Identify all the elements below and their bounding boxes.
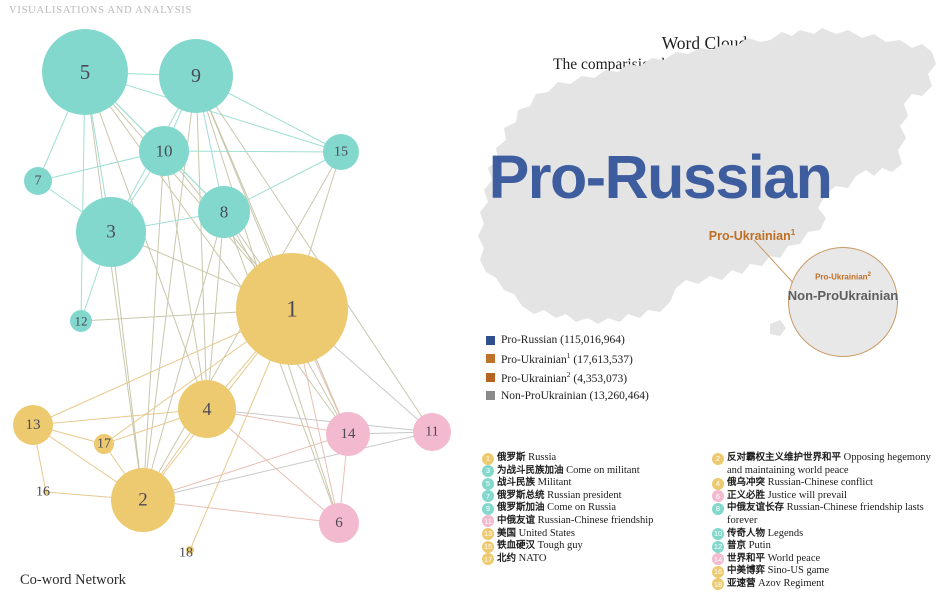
legend-label: Non-ProUkrainian (13,260,464) (501, 390, 649, 402)
keyword-item: 14世界和平 World peace (712, 553, 934, 566)
keyword-text: 战斗民族 Militant (497, 477, 704, 490)
keyword-item: 13美国 United States (482, 528, 704, 541)
legend-swatch-icon (486, 373, 495, 382)
keyword-chinese: 中俄友谊长存 (727, 502, 784, 513)
keyword-text: 俄罗斯 Russia (497, 452, 704, 465)
network-edge (143, 434, 348, 500)
network-node-2[interactable]: 2 (111, 468, 175, 532)
keyword-badge: 2 (712, 453, 724, 465)
keyword-badge: 3 (482, 465, 494, 477)
keyword-item: 10传奇人物 Legends (712, 528, 934, 541)
keyword-item: 18亚速营 Azov Regiment (712, 578, 934, 591)
word-pro-ukrainian-1-sup: 1 (791, 228, 795, 237)
keyword-text: 中美博弈 Sino-US game (727, 565, 934, 578)
keyword-item: 12普京 Putin (712, 540, 934, 553)
keyword-english: Russia (526, 452, 557, 463)
network-node-layer: 123456789101112131415161718 (13, 29, 451, 561)
network-node-label: 11 (425, 425, 438, 440)
network-node-3[interactable]: 3 (76, 197, 146, 267)
network-node-16[interactable]: 16 (36, 485, 50, 500)
keyword-english: World peace (765, 553, 820, 564)
keyword-text: 反对霸权主义维护世界和平 Opposing hegemony and maint… (727, 452, 934, 477)
network-edge (111, 232, 143, 500)
keyword-text: 俄罗斯总统 Russian president (497, 490, 704, 503)
keyword-item: 8中俄友谊长存 Russian-Chinese friendship lasts… (712, 502, 934, 527)
keyword-chinese: 铁血硬汉 (497, 540, 535, 551)
keyword-index: 1俄罗斯 Russia3为战斗民族加油 Come on militant5战斗民… (482, 452, 937, 591)
keyword-english: Come on militant (564, 465, 640, 476)
keyword-badge: 6 (712, 490, 724, 502)
keyword-english: Russian-Chinese conflict (765, 477, 873, 488)
network-node-label: 4 (203, 399, 212, 419)
keyword-chinese: 反对霸权主义维护世界和平 (727, 452, 841, 463)
network-node-10[interactable]: 10 (139, 126, 189, 176)
word-pro-russian: Pro-Russian (480, 147, 840, 208)
keyword-text: 美国 United States (497, 528, 704, 541)
keyword-english: Russian president (545, 490, 622, 501)
keyword-text: 普京 Putin (727, 540, 934, 553)
network-node-13[interactable]: 13 (13, 405, 53, 445)
legend-label-sup: 1 (567, 351, 571, 360)
keyword-item: 15铁血硬汉 Tough guy (482, 540, 704, 553)
keyword-chinese: 俄乌冲突 (727, 477, 765, 488)
network-node-label: 1 (286, 297, 298, 322)
legend-swatch-icon (486, 336, 495, 345)
network-node-label: 15 (334, 145, 348, 160)
keyword-badge: 15 (482, 541, 494, 553)
keyword-item: 17北约 NATO (482, 553, 704, 566)
network-node-label: 14 (341, 426, 357, 442)
keyword-english: NATO (516, 553, 546, 564)
network-node-11[interactable]: 11 (413, 413, 451, 451)
keyword-badge: 14 (712, 553, 724, 565)
keyword-chinese: 世界和平 (727, 553, 765, 564)
network-edge (196, 76, 432, 432)
network-node-label: 16 (36, 485, 50, 500)
network-node-4[interactable]: 4 (178, 380, 236, 438)
keyword-english: Putin (746, 540, 771, 551)
network-node-1[interactable]: 1 (236, 253, 348, 365)
network-edge (143, 151, 164, 500)
keyword-item: 7俄罗斯总统 Russian president (482, 490, 704, 503)
network-node-6[interactable]: 6 (319, 503, 359, 543)
keyword-text: 俄乌冲突 Russian-Chinese conflict (727, 477, 934, 490)
keyword-chinese: 为战斗民族加油 (497, 465, 564, 476)
word-pro-ukrainian-2-text: Pro-Ukrainian (815, 273, 867, 282)
network-node-15[interactable]: 15 (323, 134, 359, 170)
keyword-badge: 11 (482, 515, 494, 527)
legend-label-sup: 2 (567, 370, 571, 379)
keyword-text: 为战斗民族加油 Come on militant (497, 465, 704, 478)
keyword-badge: 12 (712, 541, 724, 553)
keyword-english: Russian-Chinese friendship (535, 515, 653, 526)
keyword-badge: 8 (712, 503, 724, 515)
network-node-18[interactable]: 18 (179, 546, 194, 561)
keyword-text: 北约 NATO (497, 553, 704, 566)
keyword-badge: 9 (482, 503, 494, 515)
keyword-english: United States (516, 528, 575, 539)
keyword-english: Come on Russia (545, 502, 616, 513)
keyword-text: 俄罗斯加油 Come on Russia (497, 502, 704, 515)
word-non-pro-ukrainian: Non-ProUkrainian (784, 288, 902, 303)
legend-row: Non-ProUkrainian (13,260,464) (486, 387, 649, 406)
keyword-chinese: 亚速营 (727, 578, 756, 589)
legend-swatch-icon (486, 354, 495, 363)
keyword-chinese: 普京 (727, 540, 746, 551)
keyword-text: 正义必胜 Justice will prevail (727, 490, 934, 503)
keyword-badge: 1 (482, 453, 494, 465)
keyword-item: 11中俄友谊 Russian-Chinese friendship (482, 515, 704, 528)
network-node-label: 10 (156, 142, 173, 161)
network-node-17[interactable]: 17 (94, 434, 114, 454)
network-edge (85, 72, 143, 500)
word-pro-ukrainian-2-sup: 2 (868, 272, 871, 278)
keyword-chinese: 战斗民族 (497, 477, 535, 488)
keyword-text: 中俄友谊长存 Russian-Chinese friendship lasts … (727, 502, 934, 527)
keyword-chinese: 中俄友谊 (497, 515, 535, 526)
word-pro-ukrainian-1: Pro-Ukrainian1 (652, 228, 852, 243)
keyword-column-right: 2反对霸权主义维护世界和平 Opposing hegemony and main… (712, 452, 934, 591)
keyword-item: 2反对霸权主义维护世界和平 Opposing hegemony and main… (712, 452, 934, 477)
legend-label: Pro-Ukrainian1 (17,613,537) (501, 351, 633, 366)
keyword-chinese: 传奇人物 (727, 528, 765, 539)
network-node-label: 2 (138, 490, 148, 511)
keyword-column-left: 1俄罗斯 Russia3为战斗民族加油 Come on militant5战斗民… (482, 452, 704, 591)
keyword-text: 传奇人物 Legends (727, 528, 934, 541)
keyword-english: Tough guy (535, 540, 583, 551)
keyword-badge: 17 (482, 553, 494, 565)
network-node-8[interactable]: 8 (198, 186, 250, 238)
legend-swatch-icon (486, 391, 495, 400)
network-node-label: 5 (80, 60, 91, 84)
keyword-chinese: 俄罗斯 (497, 452, 526, 463)
keyword-badge: 13 (482, 528, 494, 540)
word-cloud-legend: Pro-Russian (115,016,964)Pro-Ukrainian1 … (486, 331, 649, 405)
keyword-item: 6正义必胜 Justice will prevail (712, 490, 934, 503)
network-node-label: 17 (97, 437, 111, 452)
keyword-english: Sino-US game (765, 565, 829, 576)
word-pro-ukrainian-2: Pro-Ukrainian2 (788, 272, 898, 282)
network-node-label: 18 (179, 546, 193, 561)
keyword-badge: 5 (482, 478, 494, 490)
keyword-badge: 4 (712, 478, 724, 490)
keyword-english: Azov Regiment (756, 578, 825, 589)
network-edge (196, 76, 348, 434)
keyword-badge: 18 (712, 578, 724, 590)
keyword-badge: 10 (712, 528, 724, 540)
network-caption: Co-word Network (20, 572, 126, 589)
keyword-chinese: 中美博弈 (727, 565, 765, 576)
legend-row: Pro-Ukrainian2 (4,353,073) (486, 368, 649, 387)
word-cloud-panel: Word Cloud The comparision based on the … (470, 0, 939, 608)
network-node-label: 12 (75, 314, 88, 329)
legend-label: Pro-Ukrainian2 (4,353,073) (501, 370, 627, 385)
network-node-label: 13 (26, 417, 41, 433)
network-edge (164, 151, 341, 152)
keyword-text: 世界和平 World peace (727, 553, 934, 566)
network-node-5[interactable]: 5 (42, 29, 128, 115)
keyword-chinese: 美国 (497, 528, 516, 539)
network-node-label: 7 (35, 174, 42, 189)
network-node-label: 6 (335, 515, 343, 531)
network-node-9[interactable]: 9 (159, 39, 233, 113)
keyword-chinese: 俄罗斯加油 (497, 502, 545, 513)
keyword-item: 1俄罗斯 Russia (482, 452, 704, 465)
network-node-label: 3 (106, 222, 116, 243)
keyword-chinese: 俄罗斯总统 (497, 490, 545, 501)
legend-row: Pro-Ukrainian1 (17,613,537) (486, 350, 649, 369)
keyword-english: Legends (765, 528, 803, 539)
network-edge (196, 76, 207, 409)
keyword-badge: 7 (482, 490, 494, 502)
network-node-label: 9 (191, 65, 201, 87)
keyword-english: Militant (535, 477, 571, 488)
keyword-item: 9俄罗斯加油 Come on Russia (482, 502, 704, 515)
word-pro-ukrainian-1-text: Pro-Ukrainian (709, 229, 791, 243)
keyword-english: Justice will prevail (765, 490, 847, 501)
network-edge (143, 432, 432, 500)
keyword-chinese: 正义必胜 (727, 490, 765, 501)
keyword-item: 4俄乌冲突 Russian-Chinese conflict (712, 477, 934, 490)
keyword-chinese: 北约 (497, 553, 516, 564)
legend-label: Pro-Russian (115,016,964) (501, 334, 625, 346)
legend-row: Pro-Russian (115,016,964) (486, 331, 649, 350)
keyword-text: 亚速营 Azov Regiment (727, 578, 934, 591)
network-graph: 123456789101112131415161718 (0, 0, 470, 585)
network-node-7[interactable]: 7 (24, 167, 52, 195)
network-node-14[interactable]: 14 (326, 412, 370, 456)
keyword-item: 16中美博弈 Sino-US game (712, 565, 934, 578)
keyword-text: 中俄友谊 Russian-Chinese friendship (497, 515, 704, 528)
keyword-item: 3为战斗民族加油 Come on militant (482, 465, 704, 478)
network-node-label: 8 (220, 203, 229, 222)
keyword-item: 5战斗民族 Militant (482, 477, 704, 490)
network-node-12[interactable]: 12 (70, 310, 92, 332)
keyword-text: 铁血硬汉 Tough guy (497, 540, 704, 553)
co-word-network-panel: 123456789101112131415161718 Co-word Netw… (0, 0, 470, 608)
network-edge-layer (33, 72, 432, 550)
keyword-badge: 16 (712, 566, 724, 578)
